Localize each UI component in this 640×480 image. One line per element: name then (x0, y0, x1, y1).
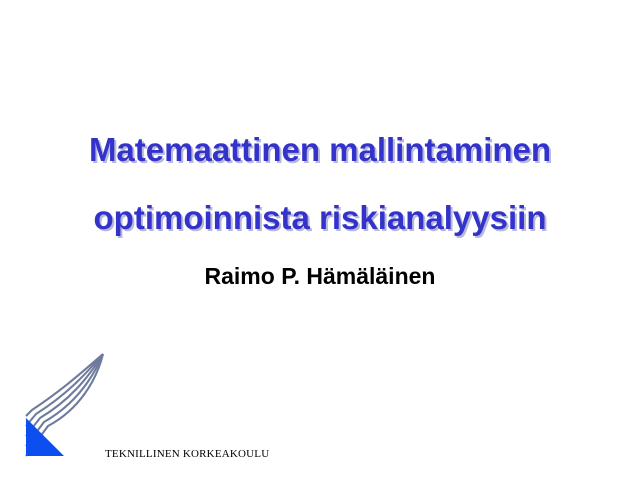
tkk-logo (18, 352, 114, 470)
slide-author: Raimo P. Hämäläinen (0, 263, 640, 290)
footer-organization-label: TEKNILLINEN KORKEAKOULU (105, 448, 269, 460)
slide-title-line-2: optimoinnista riskianalyysiin (0, 199, 640, 237)
slide-canvas: Matemaattinen mallintaminen optimoinnist… (0, 0, 640, 480)
slide-title-line-1: Matemaattinen mallintaminen (0, 131, 640, 169)
tkk-logo-icon (18, 352, 114, 470)
